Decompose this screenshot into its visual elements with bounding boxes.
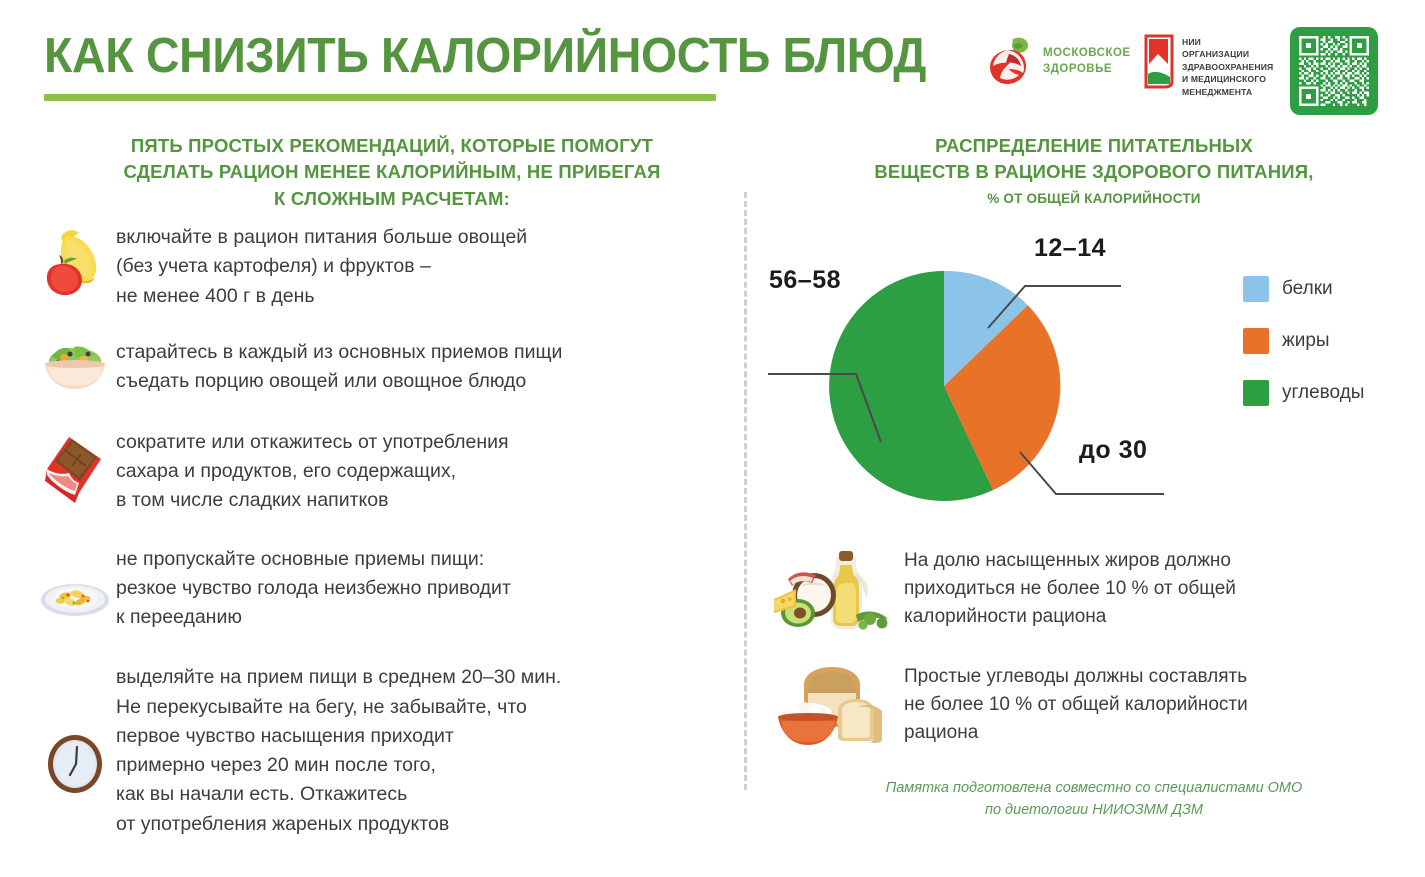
rec-5-line-2: Не перекусывайте на бегу, не забывайте, … — [116, 693, 561, 722]
recommendation-item: сократите или откажитесь от употребления… — [0, 427, 744, 516]
rec-4-line-2: резкое чувство голода неизбежно приводит — [116, 574, 511, 603]
healthy-fats-icon — [764, 543, 904, 635]
legend-label-fats: жиры — [1282, 330, 1330, 352]
legend-swatch-carbs — [1243, 380, 1269, 406]
clock-icon — [34, 707, 116, 795]
recommendation-text: включайте в рацион питания больше овощей… — [116, 222, 527, 311]
plate-of-food-icon — [34, 556, 116, 620]
legend-label-protein: белки — [1282, 278, 1333, 300]
footer-line-2: по диетологии НИИОЗММ ДЗМ — [834, 800, 1354, 822]
nutrient-distribution-pie-chart: 12–14 56–58 до 30 белки жиры углеводы — [744, 226, 1425, 526]
bread-and-cheese-icon — [764, 659, 904, 751]
right-heading-line-1: РАСПРЕДЕЛЕНИЕ ПИТАТЕЛЬНЫХ — [804, 133, 1384, 159]
pie-label-protein: 12–14 — [1034, 234, 1106, 263]
rec-3-line-3: в том числе сладких напитков — [116, 486, 509, 515]
fruits-icon — [34, 222, 116, 300]
legend-label-carbs: углеводы — [1282, 382, 1364, 404]
note-text: На долю насыщенных жиров должно приходит… — [904, 547, 1236, 631]
recommendation-text: сократите или откажитесь от употребления… — [116, 427, 509, 516]
left-column-heading: ПЯТЬ ПРОСТЫХ РЕКОМЕНДАЦИЙ, КОТОРЫЕ ПОМОГ… — [62, 133, 722, 212]
recommendation-item: старайтесь в каждый из основных приемов … — [0, 337, 744, 397]
recommendation-item: выделяйте на прием пищи в среднем 20–30 … — [0, 662, 744, 839]
rec-4-line-1: не пропускайте основные приемы пищи: — [116, 545, 511, 574]
left-heading-line-3: К СЛОЖНЫМ РАСЧЕТАМ: — [62, 186, 722, 212]
footer-credit-note: Памятка подготовлена совместно со специа… — [834, 778, 1354, 822]
right-column-heading: РАСПРЕДЕЛЕНИЕ ПИТАТЕЛЬНЫХ ВЕЩЕСТВ В РАЦИ… — [804, 133, 1384, 208]
rec-1-line-2: (без учета картофеля) и фруктов – — [116, 252, 527, 281]
rec-5-line-5: как вы начали есть. Откажитесь — [116, 780, 561, 809]
note-1-line-2: приходиться не более 10 % от общей — [904, 575, 1236, 603]
legend-swatch-protein — [1243, 276, 1269, 302]
rec-5-line-3: первое чувство насыщения приходит — [116, 722, 561, 751]
right-heading-line-2: ВЕЩЕСТВ В РАЦИОНЕ ЗДОРОВОГО ПИТАНИЯ, — [804, 159, 1384, 185]
recommendation-text: выделяйте на прием пищи в среднем 20–30 … — [116, 662, 561, 839]
note-text: Простые углеводы должны составлять не бо… — [904, 663, 1248, 747]
rec-5-line-6: от употребления жареных продуктов — [116, 810, 561, 839]
legend-swatch-fats — [1243, 328, 1269, 354]
rec-2-line-2: съедать порцию овощей или овощное блюдо — [116, 367, 562, 396]
recommendation-item: включайте в рацион питания больше овощей… — [0, 222, 744, 311]
right-column: РАСПРЕДЕЛЕНИЕ ПИТАТЕЛЬНЫХ ВЕЩЕСТВ В РАЦИ… — [744, 0, 1425, 877]
footer-line-1: Памятка подготовлена совместно со специа… — [834, 778, 1354, 800]
pie-chart-legend: белки жиры углеводы — [1243, 276, 1364, 432]
left-heading-line-2: СДЕЛАТЬ РАЦИОН МЕНЕЕ КАЛОРИЙНЫМ, НЕ ПРИБ… — [62, 159, 722, 185]
note-2-line-2: не более 10 % от общей калорийности — [904, 691, 1248, 719]
left-heading-line-1: ПЯТЬ ПРОСТЫХ РЕКОМЕНДАЦИЙ, КОТОРЫЕ ПОМОГ… — [62, 133, 722, 159]
note-1-line-1: На долю насыщенных жиров должно — [904, 547, 1236, 575]
legend-item-carbs: углеводы — [1243, 380, 1364, 406]
note-item: Простые углеводы должны составлять не бо… — [744, 659, 1425, 751]
legend-item-protein: белки — [1243, 276, 1364, 302]
recommendation-item: не пропускайте основные приемы пищи: рез… — [0, 544, 744, 633]
nutrition-notes: На долю насыщенных жиров должно приходит… — [744, 543, 1425, 775]
infographic-page: КАК СНИЗИТЬ КАЛОРИЙНОСТЬ БЛЮД МОСКОВСКОЕ… — [0, 0, 1425, 877]
rec-5-line-4: примерно через 20 мин после того, — [116, 751, 561, 780]
rec-3-line-1: сократите или откажитесь от употребления — [116, 428, 509, 457]
rec-4-line-3: к перееданию — [116, 603, 511, 632]
pie-label-carbs: 56–58 — [769, 266, 841, 295]
note-item: На долю насыщенных жиров должно приходит… — [744, 543, 1425, 635]
note-2-line-1: Простые углеводы должны составлять — [904, 663, 1248, 691]
note-1-line-3: калорийности рациона — [904, 603, 1236, 631]
pie-label-fats: до 30 — [1079, 436, 1147, 465]
legend-item-fats: жиры — [1243, 328, 1364, 354]
salad-bowl-icon — [34, 337, 116, 397]
recommendation-list: включайте в рацион питания больше овощей… — [0, 222, 744, 867]
rec-2-line-1: старайтесь в каждый из основных приемов … — [116, 338, 562, 367]
note-2-line-3: рациона — [904, 719, 1248, 747]
right-heading-subtitle: % ОТ ОБЩЕЙ КАЛОРИЙНОСТИ — [804, 190, 1384, 209]
recommendation-text: старайтесь в каждый из основных приемов … — [116, 337, 562, 397]
recommendation-text: не пропускайте основные приемы пищи: рез… — [116, 544, 511, 633]
left-column: ПЯТЬ ПРОСТЫХ РЕКОМЕНДАЦИЙ, КОТОРЫЕ ПОМОГ… — [0, 0, 744, 877]
rec-5-line-1: выделяйте на прием пищи в среднем 20–30 … — [116, 663, 561, 692]
chocolate-bar-icon — [34, 427, 116, 507]
rec-1-line-3: не менее 400 г в день — [116, 282, 527, 311]
rec-3-line-2: сахара и продуктов, его содержащих, — [116, 457, 509, 486]
rec-1-line-1: включайте в рацион питания больше овощей — [116, 223, 527, 252]
